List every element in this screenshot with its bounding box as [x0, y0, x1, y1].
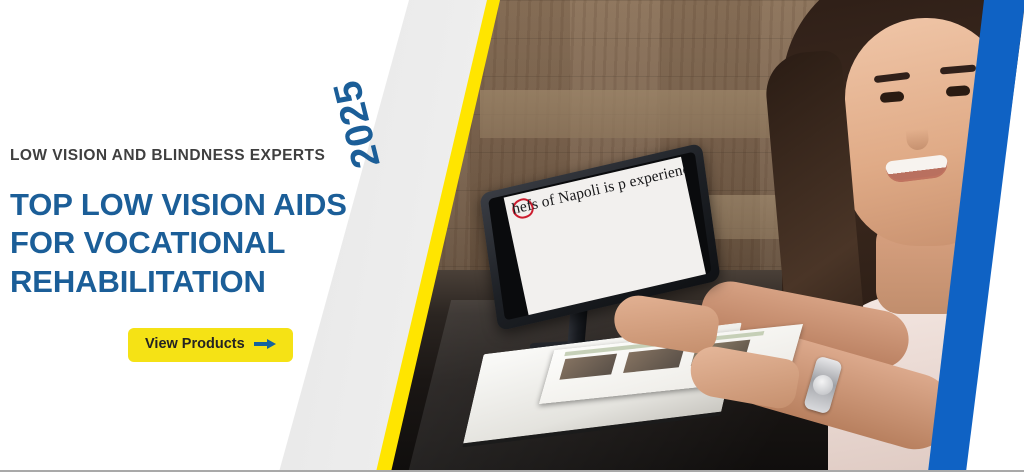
woman-nose	[905, 115, 930, 151]
banner-text-block: LOW VISION AND BLINDNESS EXPERTS TOP LOW…	[10, 148, 370, 301]
banner-eyebrow: LOW VISION AND BLINDNESS EXPERTS	[10, 148, 370, 164]
cta-container: View Products	[128, 328, 293, 362]
view-products-label: View Products	[145, 337, 245, 352]
page-title: TOP LOW VISION AIDS FOR VOCATIONAL REHAB…	[10, 186, 370, 302]
wood-plank-highlight	[480, 90, 800, 138]
headline-line-2: FOR VOCATIONAL	[10, 225, 285, 260]
arrow-right-icon	[254, 339, 276, 350]
magazine-photo	[559, 354, 617, 380]
promo-banner: hefs of Napoli is p experience to Deal m…	[0, 0, 1024, 472]
woman-eye	[946, 85, 971, 97]
watch-face	[811, 373, 836, 398]
headline-line-1: TOP LOW VISION AIDS	[10, 187, 347, 222]
view-products-button[interactable]: View Products	[128, 328, 293, 362]
magazine-photo	[623, 346, 685, 373]
headline-line-3: REHABILITATION	[10, 264, 266, 299]
